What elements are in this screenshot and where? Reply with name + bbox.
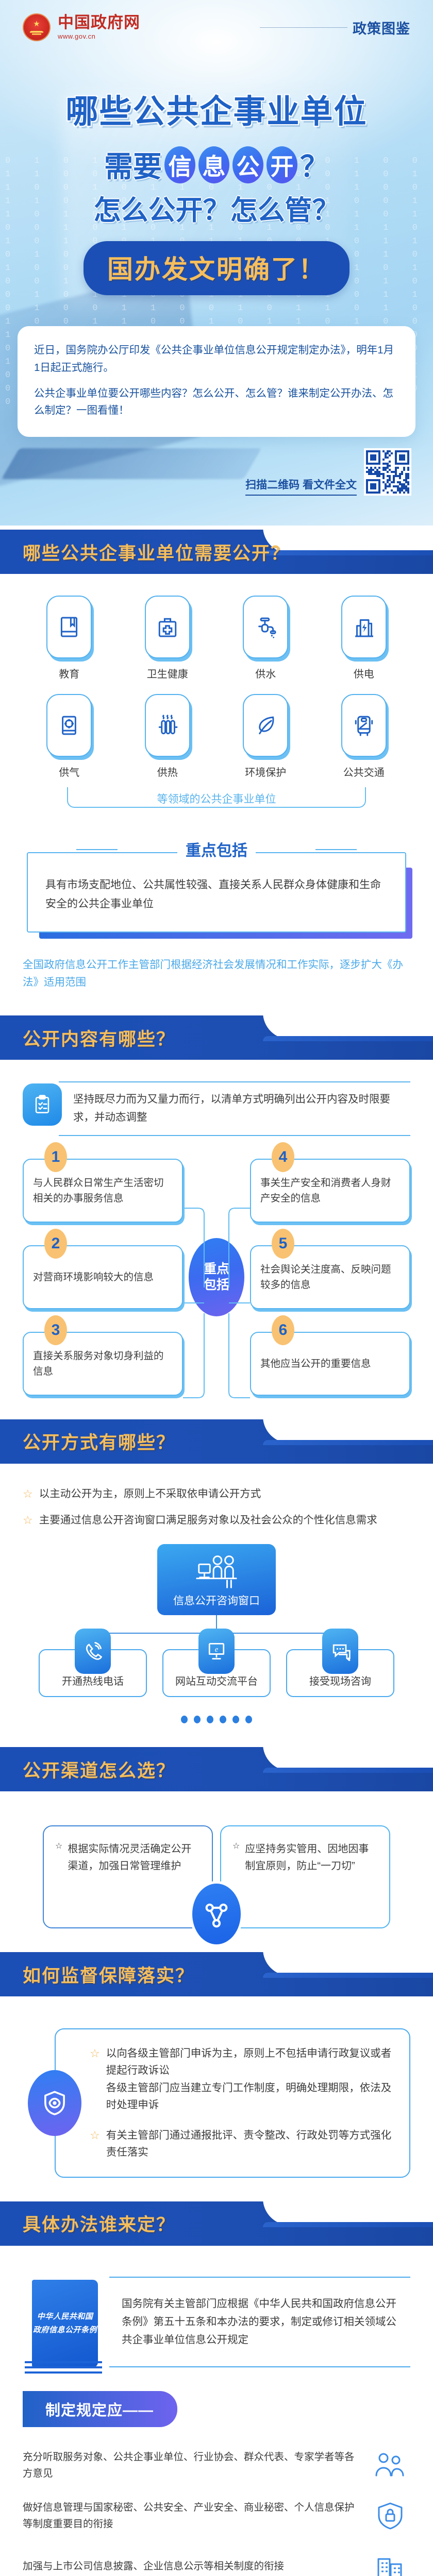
hub-line-1: 重点	[204, 1261, 229, 1277]
key-includes-block: 重点包括 具有市场支配地位、公共属性较强、直接关系人民群众身体健康和生命安全的公…	[23, 838, 410, 933]
method-bullet-text: 主要通过信息公开咨询窗口满足服务对象以及社会公众的个性化信息需求	[39, 1512, 377, 1529]
content-card-number: 4	[272, 1142, 294, 1172]
content-card-5[interactable]: 5 社会舆论关注度高、反映问题较多的信息	[250, 1245, 410, 1309]
dot	[194, 1716, 201, 1723]
content-card-text: 与人民群众日常生产生活密切相关的办事服务信息	[33, 1175, 173, 1206]
channel-choice-card-2[interactable]: ☆ 应坚持务实管用、因地因事制宜原则，防止“一刀切”	[220, 1825, 390, 1928]
field-label: 教育	[23, 666, 116, 681]
header-swoop-decor	[263, 1012, 433, 1039]
star-icon: ☆	[55, 1841, 62, 1851]
content-card-number: 6	[272, 1315, 294, 1345]
intro-card: 近日，国务院办公厅印发《公共企事业单位信息公开规定制定办法》，明年1月1日起正式…	[18, 326, 415, 437]
dot	[207, 1716, 213, 1723]
bracket-label: 等领域的公共企事业单位	[150, 791, 284, 806]
content-lead-text-box: 坚持既尽力而为又量力而行，以清单方式明确列出公开内容及时限要求，并动态调整	[59, 1081, 410, 1136]
series-label: 政策图鉴	[353, 18, 410, 38]
content-card-4[interactable]: 4 事关生产安全和消费者人身财产安全的信息	[250, 1159, 410, 1223]
hero-title-line-1: 哪些公共企事业单位	[0, 86, 433, 132]
channel-card-row: 开通热线电话 e 网站互动交流平台	[39, 1649, 394, 1697]
section-body-methods: ☆ 以主动公开为主，原则上不采取依申请公开方式 ☆ 主要通过信息公开咨询窗口满足…	[0, 1464, 433, 1743]
book-title-line-1: 中华人民共和国	[37, 2312, 93, 2321]
consult-window-label: 信息公开咨询窗口	[162, 1592, 271, 1608]
law-text-box: 国务院有关主管部门应根据《中华人民共和国政府信息公开条例》第五十五条和本办法的要…	[109, 2277, 410, 2367]
hero-title-line-2: 需要 信 息 公 开 ？	[0, 144, 433, 185]
method-bullet-1: ☆ 以主动公开为主，原则上不采取依申请公开方式	[23, 1485, 410, 1502]
field-cell-water[interactable]: 供水	[219, 596, 312, 681]
field-cell-heat[interactable]: 供热	[121, 694, 214, 779]
brand-url: www.gov.cn	[58, 32, 140, 40]
gas-meter-icon	[46, 694, 92, 757]
content-card-text: 其他应当公开的重要信息	[260, 1356, 371, 1371]
mindmap-grid: 1 与人民群众日常生产生活密切相关的办事服务信息 4 事关生产安全和消费者人身财…	[23, 1159, 410, 1396]
law-text: 国务院有关主管部门应根据《中华人民共和国政府信息公开条例》第五十五条和本办法的要…	[122, 2295, 406, 2349]
regulation-book-icon: 中华人民共和国 政府信息公开条例	[32, 2280, 98, 2367]
content-card-6[interactable]: 6 其他应当公开的重要信息	[250, 1332, 410, 1396]
section-body-who-decides: 中华人民共和国 政府信息公开条例 国务院有关主管部门应根据《中华人民共和国政府信…	[0, 2246, 433, 2432]
field-label: 供水	[219, 666, 312, 681]
national-emblem-icon	[23, 13, 51, 41]
dot	[220, 1716, 226, 1723]
scope-expansion-note: 全国政府信息公开工作主管部门根据经济社会发展情况和工作实际，逐步扩大《办法》适用…	[23, 956, 410, 992]
qr-code-icon[interactable]	[364, 448, 411, 496]
content-card-2[interactable]: 2 对营商环境影响较大的信息	[23, 1245, 183, 1309]
supervision-card: ☆ 以向各级主管部门申诉为主，原则上不包括申请行政复议或者提起行政诉讼 各级主管…	[55, 2028, 410, 2177]
field-label: 供气	[23, 764, 116, 779]
star-icon: ☆	[23, 1512, 33, 1529]
rule-head-text: 制定规定应——	[45, 2402, 154, 2419]
supervision-bullet-text: 以向各级主管部门申诉为主，原则上不包括申请行政复议或者提起行政诉讼 各级主管部门…	[106, 2045, 396, 2113]
clipboard-check-icon	[23, 1083, 62, 1126]
content-card-number: 3	[44, 1315, 67, 1345]
field-cell-health[interactable]: 卫生健康	[121, 596, 214, 681]
section-body-content: 坚持既尽力而为又量力而行，以清单方式明确列出公开内容及时限要求，并动态调整 1 …	[0, 1060, 433, 1415]
channel-card-website[interactable]: e 网站互动交流平台	[162, 1649, 271, 1697]
hub-line-2: 包括	[204, 1277, 229, 1293]
hero-circle-char-2: 息	[198, 146, 229, 183]
header-swoop-decor-2	[263, 1768, 433, 1773]
section-header-channels: 公开渠道怎么选？	[0, 1747, 433, 1791]
rule-item-1: 充分听取服务对象、公共企事业单位、行业协会、群众代表、专家学者等各方意见	[23, 2448, 410, 2484]
divider-rule	[260, 27, 347, 28]
hero-banner: 0 1 0 1 1 0 0 1 0 1 1 0 1 0 0 1 1 0 0 1 …	[0, 0, 433, 526]
medical-kit-icon	[145, 596, 190, 658]
leaf-icon	[243, 694, 288, 757]
content-card-text: 事关生产安全和消费者人身财产安全的信息	[260, 1175, 400, 1206]
intro-paragraph-1: 近日，国务院办公厅印发《公共企事业单位信息公开规定制定办法》，明年1月1日起正式…	[34, 342, 399, 377]
section-title-methods: 公开方式有哪些？	[23, 1428, 175, 1454]
qr-label: 扫描二维码 看文件全文	[245, 477, 357, 496]
mindmap-hub: 重点 包括	[189, 1238, 244, 1316]
rule-text: 充分听取服务对象、公共企事业单位、行业协会、群众代表、专家学者等各方意见	[23, 2449, 359, 2482]
star-icon: ☆	[23, 1485, 33, 1502]
content-card-text: 直接关系服务对象切身利益的信息	[33, 1348, 173, 1379]
hero-title-block: 哪些公共企事业单位 需要 信 息 公 开 ？ 怎么公开？怎么管？ 国办发文明确了…	[0, 41, 433, 295]
dot	[232, 1716, 239, 1723]
section-header-who-decides: 具体办法谁来定？	[0, 2201, 433, 2246]
field-label: 卫生健康	[121, 666, 214, 681]
series-label-group: 政策图鉴	[260, 18, 410, 38]
field-label: 供热	[121, 764, 214, 779]
hero-circle-char-4: 开	[267, 146, 297, 183]
star-icon: ☆	[90, 2127, 100, 2144]
channel-choice-text: 根据实际情况灵活确定公开渠道，加强日常管理维护	[68, 1841, 201, 1874]
field-label: 供电	[318, 666, 411, 681]
section-header-methods: 公开方式有哪些？	[0, 1419, 433, 1464]
channel-label: 网站互动交流平台	[168, 1673, 265, 1688]
section-body-scope: 教育 卫生健康	[0, 574, 433, 1011]
content-card-text: 对营商环境影响较大的信息	[33, 1269, 154, 1285]
radiator-icon	[145, 694, 190, 757]
content-card-text: 社会舆论关注度高、反映问题较多的信息	[260, 1262, 400, 1293]
hero-line2-suffix: ？	[300, 144, 329, 185]
content-card-1[interactable]: 1 与人民群众日常生产生活密切相关的办事服务信息	[23, 1159, 183, 1223]
channel-label: 开通热线电话	[44, 1673, 142, 1688]
field-cell-gas[interactable]: 供气	[23, 694, 116, 779]
channel-choice-row: ☆ 根据实际情况灵活确定公开渠道，加强日常管理维护 ☆ 应坚持务实管用、因地因事…	[23, 1825, 410, 1928]
channel-choice-card-1[interactable]: ☆ 根据实际情况灵活确定公开渠道，加强日常管理维护	[43, 1825, 213, 1928]
header-swoop-decor	[263, 1416, 433, 1443]
section-title-content: 公开内容有哪些？	[23, 1025, 175, 1051]
chat-bubble-icon	[322, 1629, 358, 1674]
content-lead-text: 坚持既尽力而为又量力而行，以清单方式明确列出公开内容及时限要求，并动态调整	[73, 1091, 405, 1127]
section-body-supervision: ☆ 以向各级主管部门申诉为主，原则上不包括申请行政复议或者提起行政诉讼 各级主管…	[0, 1996, 433, 2197]
rule-item-3: 加强与上市公司信息披露、企业信息公示等相关制度的衔接	[23, 2549, 410, 2576]
dot	[181, 1716, 188, 1723]
field-cell-power[interactable]: 供电	[318, 596, 411, 681]
star-icon: ☆	[232, 1841, 240, 1851]
network-nodes-icon	[190, 1881, 243, 1947]
shield-lock-icon	[370, 2498, 410, 2534]
channel-card-onsite[interactable]: 接受现场咨询	[286, 1649, 394, 1697]
scope-bracket: 等领域的公共企事业单位	[23, 784, 410, 820]
hero-title-line-3: 怎么公开？怎么管？	[0, 189, 433, 228]
consult-window-node: 信息公开咨询窗口	[157, 1544, 276, 1615]
browser-icon: e	[198, 1629, 235, 1674]
law-reference-row: 中华人民共和国 政府信息公开条例 国务院有关主管部门应根据《中华人民共和国政府信…	[23, 2277, 410, 2367]
section-header-supervision: 如何监督保障落实？	[0, 1952, 433, 1996]
hero-circle-char-1: 信	[164, 146, 195, 183]
section-title-channels: 公开渠道怎么选？	[23, 1756, 175, 1783]
qr-row: 扫描二维码 看文件全文	[0, 448, 411, 496]
infographic-page: 0 1 0 1 1 0 0 1 0 1 1 0 1 0 0 1 1 0 0 1 …	[0, 0, 433, 2576]
book-title: 中华人民共和国 政府信息公开条例	[33, 2310, 97, 2336]
content-card-number: 1	[44, 1142, 67, 1172]
rule-text: 加强与上市公司信息披露、企业信息公示等相关制度的衔接	[23, 2558, 359, 2575]
decor-dots	[181, 1716, 252, 1723]
brand-bar: 中国政府网 www.gov.cn 政策图鉴	[0, 0, 433, 41]
content-card-number: 2	[44, 1229, 67, 1259]
hero-circle-char-3: 公	[232, 146, 263, 183]
key-includes-text: 具有市场支配地位、公共属性较强、直接关系人民群众身体健康和生命安全的公共企事业单…	[45, 876, 388, 914]
rule-text: 做好信息管理与国家秘密、公共安全、产业安全、商业秘密、个人信息保护等制度重要目的…	[23, 2500, 359, 2532]
buildings-icon	[370, 2549, 410, 2576]
field-cell-education[interactable]: 教育	[23, 596, 116, 681]
service-counter-icon	[194, 1553, 239, 1589]
section-title-who-decides: 具体办法谁来定？	[23, 2210, 175, 2236]
mindmap-hub-slot: 重点 包括	[183, 1238, 250, 1316]
section-header-content: 公开内容有哪些？	[0, 1015, 433, 1060]
header-swoop-decor	[263, 1744, 433, 1771]
channel-label: 接受现场咨询	[291, 1673, 389, 1688]
section-title-supervision: 如何监督保障落实？	[23, 1961, 194, 1988]
field-label: 公共交通	[318, 764, 411, 779]
rule-item-2: 做好信息管理与国家秘密、公共安全、产业安全、商业秘密、个人信息保护等制度重要目的…	[23, 2498, 410, 2534]
brand-name: 中国政府网	[58, 14, 140, 31]
method-bullet-text: 以主动公开为主，原则上不采取依申请公开方式	[39, 1485, 261, 1502]
key-includes-box: 具有市场支配地位、公共属性较强、直接关系人民群众身体健康和生命安全的公共企事业单…	[27, 852, 406, 933]
rule-head-pill: 制定规定应——	[23, 2391, 177, 2427]
field-icon-grid: 教育 卫生健康	[23, 596, 410, 779]
bus-icon	[341, 694, 387, 757]
shield-eye-icon	[28, 2070, 81, 2136]
hero-banner-pill: 国办发文明确了！	[84, 241, 349, 295]
header-swoop-decor-2	[263, 1440, 433, 1445]
rule-list: 充分听取服务对象、公共企事业单位、行业协会、群众代表、专家学者等各方意见 做好信…	[0, 2432, 433, 2576]
content-card-3[interactable]: 3 直接关系服务对象切身利益的信息	[23, 1332, 183, 1396]
supervision-bullet-text: 有关主管部门通过通报批评、责令整改、行政处罚等方式强化责任落实	[106, 2127, 396, 2161]
header-swoop-decor	[263, 1949, 433, 1976]
supervision-row: ☆ 以向各级主管部门申诉为主，原则上不包括申请行政复议或者提起行政诉讼 各级主管…	[23, 2028, 410, 2177]
supervision-bullet-1: ☆ 以向各级主管部门申诉为主，原则上不包括申请行政复议或者提起行政诉讼 各级主管…	[90, 2045, 396, 2113]
content-lead-row: 坚持既尽力而为又量力而行，以清单方式明确列出公开内容及时限要求，并动态调整	[23, 1081, 410, 1136]
key-includes-title: 重点包括	[27, 838, 406, 860]
field-cell-environment[interactable]: 环境保护	[219, 694, 312, 779]
law-book-wrapper: 中华人民共和国 政府信息公开条例	[23, 2277, 109, 2367]
field-cell-transit[interactable]: 公共交通	[318, 694, 411, 779]
intro-paragraph-2: 公共企事业单位要公开哪些内容？怎么公开、怎么管？谁来制定公开办法、怎么制定？一图…	[34, 385, 399, 420]
people-group-icon	[370, 2448, 410, 2484]
consult-window-flow: 信息公开咨询窗口 开通热线电话	[23, 1544, 410, 1723]
header-swoop-decor	[263, 2198, 433, 2225]
hero-line2-prefix: 需要	[104, 144, 162, 185]
key-includes-title-text: 重点包括	[177, 842, 256, 859]
book-icon	[46, 596, 92, 658]
header-swoop-decor-2	[263, 2222, 433, 2227]
svg-text:e: e	[215, 1646, 219, 1654]
section-title-scope: 哪些公共企事业单位需要公开？	[23, 539, 290, 565]
section-body-channels: ☆ 根据实际情况灵活确定公开渠道，加强日常管理维护 ☆ 应坚持务实管用、因地因事…	[0, 1791, 433, 1948]
star-icon: ☆	[90, 2045, 100, 2062]
power-building-icon	[341, 596, 387, 658]
section-header-scope: 哪些公共企事业单位需要公开？	[0, 530, 433, 574]
faucet-icon	[243, 596, 288, 658]
channel-choice-text: 应坚持务实管用、因地因事制宜原则，防止“一刀切”	[245, 1841, 378, 1874]
book-title-line-2: 政府信息公开条例	[33, 2326, 97, 2334]
method-bullet-2: ☆ 主要通过信息公开咨询窗口满足服务对象以及社会公众的个性化信息需求	[23, 1512, 410, 1529]
brand-logo-group[interactable]: 中国政府网 www.gov.cn	[23, 13, 140, 41]
key-content-mindmap: 1 与人民群众日常生产生活密切相关的办事服务信息 4 事关生产安全和消费者人身财…	[23, 1159, 410, 1396]
hero-banner-text: 国办发文明确了！	[107, 255, 326, 284]
header-swoop-decor-2	[263, 1973, 433, 1978]
header-swoop-decor-2	[263, 1036, 433, 1041]
content-card-number: 5	[272, 1229, 294, 1259]
dot	[245, 1716, 252, 1723]
channel-card-hotline[interactable]: 开通热线电话	[39, 1649, 147, 1697]
intro-card-wrapper: 近日，国务院办公厅印发《公共企事业单位信息公开规定制定办法》，明年1月1日起正式…	[18, 326, 415, 437]
phone-icon	[75, 1629, 111, 1674]
supervision-bullet-2: ☆ 有关主管部门通过通报批评、责令整改、行政处罚等方式强化责任落实	[90, 2127, 396, 2161]
field-label: 环境保护	[219, 764, 312, 779]
